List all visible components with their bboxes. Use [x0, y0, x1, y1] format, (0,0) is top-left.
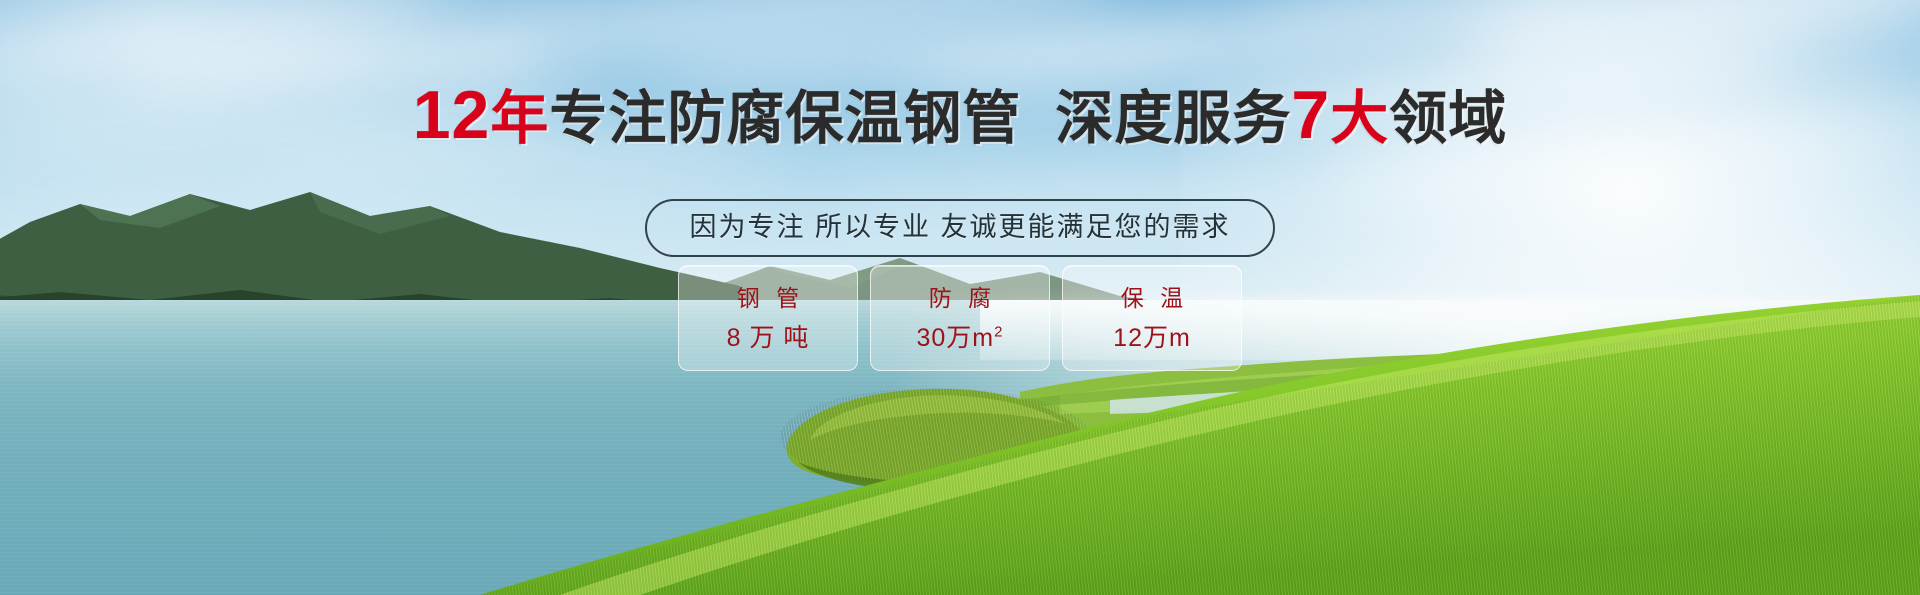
- headline-fields-unit: 大: [1330, 86, 1389, 151]
- stat-card-value-superscript: 2: [994, 324, 1003, 341]
- stat-card-title: 钢 管: [732, 283, 804, 313]
- page-title: 12年专注防腐保温钢管深度服务7大领域: [0, 84, 1920, 150]
- stat-card-value-text: 8 万 吨: [727, 324, 810, 352]
- headline-fields-number: 7: [1291, 77, 1330, 153]
- stat-card-title: 保 温: [1116, 283, 1188, 313]
- stat-card-insulation[interactable]: 保 温 12万m: [1062, 265, 1242, 371]
- stat-card-value: 12万m: [1113, 323, 1191, 353]
- stat-card-anticorrosion[interactable]: 防 腐 30万m2: [870, 265, 1050, 371]
- headline-years-unit: 年: [490, 86, 549, 151]
- stat-card-steel-pipe[interactable]: 钢 管 8 万 吨: [678, 265, 858, 371]
- headline-fields-text: 领域: [1389, 86, 1507, 151]
- subtitle-container: 因为专注 所以专业 友诚更能满足您的需求: [0, 199, 1920, 257]
- headline-main-text: 专注防腐保温钢管: [549, 86, 1021, 151]
- stat-card-value-text: 12万m: [1113, 324, 1191, 352]
- stat-card-value: 30万m2: [917, 323, 1004, 353]
- stat-card-value: 8 万 吨: [727, 323, 810, 353]
- stat-card-list: 钢 管 8 万 吨 防 腐 30万m2 保 温 12万m: [0, 265, 1920, 371]
- headline-years-number: 12: [413, 77, 491, 153]
- hero-banner: 12年专注防腐保温钢管深度服务7大领域 因为专注 所以专业 友诚更能满足您的需求…: [0, 0, 1920, 595]
- stat-card-value-text: 30万m: [917, 324, 995, 352]
- stat-card-title: 防 腐: [924, 283, 996, 313]
- subtitle-pill: 因为专注 所以专业 友诚更能满足您的需求: [645, 199, 1274, 257]
- headline-service-text: 深度服务: [1055, 86, 1291, 151]
